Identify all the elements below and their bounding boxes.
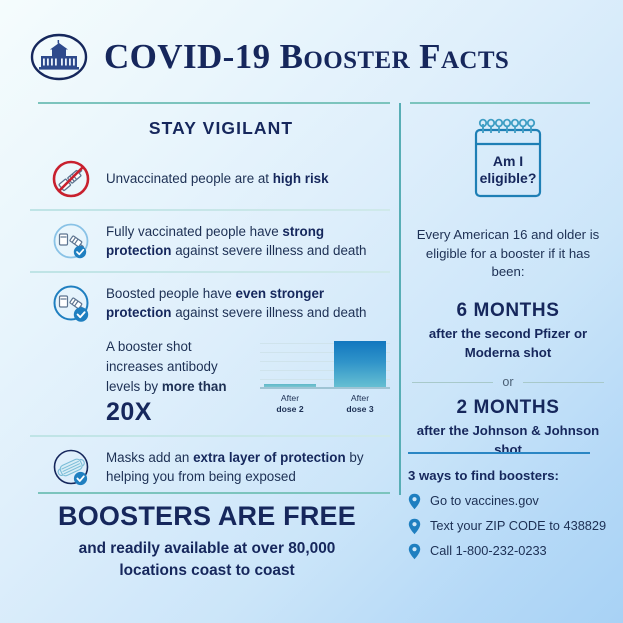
header-rule-left: [38, 102, 390, 104]
stay-vigilant-title: STAY VIGILANT: [30, 118, 390, 139]
find-boosters-section: 3 ways to find boosters: Go to vaccines.…: [408, 468, 614, 567]
fact-unvaccinated-text: Unvaccinated people are at high risk: [106, 169, 329, 188]
right-column: Am I eligible? Every American 16 and old…: [408, 114, 608, 459]
booster-antibody-block: A booster shot increases antibody levels…: [30, 333, 390, 435]
or-line-left: [412, 382, 493, 383]
chart-label-dose-2: After dose 2: [260, 393, 320, 414]
fact-masks: Masks add an extra layer of protection b…: [30, 437, 390, 497]
way-text-website: Go to vaccines.gov: [430, 492, 539, 509]
chart-label-line: After: [351, 393, 369, 403]
header-rule-right: [410, 102, 590, 104]
way-item-text[interactable]: Text your ZIP CODE to 438829: [408, 517, 614, 535]
chart-label-line: After: [281, 393, 299, 403]
booster-copy-bold: more than: [162, 379, 227, 394]
boosted-check-icon: [50, 282, 92, 324]
way-text-phone: Call 1-800-232-0233: [430, 542, 547, 559]
or-label: or: [502, 375, 513, 389]
fact-text-part: Boosted people have: [106, 286, 236, 301]
ways-heading: 3 ways to find boosters:: [408, 468, 614, 483]
fact-text-bold: extra layer of protection: [193, 450, 346, 465]
eligibility-intro: Every American 16 and older is eligible …: [408, 226, 608, 282]
fact-text-part: Fully vaccinated people have: [106, 224, 282, 239]
banner-line-2: and readily available at over 80,000: [79, 540, 336, 557]
white-house-seal-icon: [30, 32, 88, 82]
fact-text-part: Masks add an: [106, 450, 193, 465]
no-vaccine-icon: [50, 158, 92, 200]
chart-axis: [260, 387, 390, 389]
chart-label-line: dose 2: [276, 404, 303, 414]
notepad-line-1: Am I: [493, 153, 523, 169]
way-item-phone[interactable]: Call 1-800-232-0233: [408, 542, 614, 560]
option-b-duration: 2 MONTHS: [408, 397, 608, 419]
fact-fully-vaccinated-text: Fully vaccinated people have strong prot…: [106, 222, 390, 261]
way-item-website[interactable]: Go to vaccines.gov: [408, 492, 614, 510]
fact-fully-vaccinated: Fully vaccinated people have strong prot…: [30, 211, 390, 271]
or-divider: or: [412, 375, 604, 389]
fact-text-tail: against severe illness and death: [171, 243, 366, 258]
chart-label-dose-3: After dose 3: [330, 393, 390, 414]
banner-rule: [38, 492, 390, 494]
notepad-icon: Am I eligible?: [462, 114, 554, 214]
chart-category-labels: After dose 2 After dose 3: [260, 393, 390, 414]
chart-plot-area: [260, 341, 390, 389]
column-divider: [399, 103, 401, 495]
banner-subtext: and readily available at over 80,000 loc…: [22, 538, 392, 583]
fact-boosted: Boosted people have even stronger protec…: [30, 273, 390, 333]
mask-check-icon: [50, 446, 92, 488]
booster-antibody-copy: A booster shot increases antibody levels…: [106, 337, 246, 427]
notepad-line-2: eligible?: [480, 170, 537, 186]
map-pin-icon: [408, 518, 421, 535]
ways-rule: [408, 452, 590, 454]
chart-bar-after-dose-3: [334, 341, 386, 387]
left-column: STAY VIGILANT Unvaccinated people are at…: [30, 118, 390, 497]
fact-text-bold: high risk: [273, 171, 329, 186]
fact-boosted-text: Boosted people have even stronger protec…: [106, 284, 390, 323]
fact-masks-text: Masks add an extra layer of protection b…: [106, 448, 390, 487]
page-title: COVID-19 Booster Facts: [104, 37, 509, 77]
fact-text-part: Unvaccinated people are at: [106, 171, 273, 186]
or-line-right: [523, 382, 604, 383]
option-a-detail: after the second Pfizer or Moderna shot: [408, 325, 608, 362]
banner-line-3: locations coast to coast: [119, 562, 294, 579]
fact-unvaccinated: Unvaccinated people are at high risk: [30, 149, 390, 209]
fact-text-tail: against severe illness and death: [171, 305, 366, 320]
banner-headline: BOOSTERS ARE FREE: [22, 502, 392, 532]
boosters-free-banner: BOOSTERS ARE FREE and readily available …: [22, 502, 392, 582]
option-a-duration: 6 MONTHS: [408, 300, 608, 322]
booster-multiplier: 20X: [106, 398, 246, 427]
header: COVID-19 Booster Facts: [30, 26, 599, 88]
map-pin-icon: [408, 543, 421, 560]
covid-booster-infographic: COVID-19 Booster Facts STAY VIGILANT Unv…: [0, 0, 623, 623]
vaccinated-check-icon: [50, 220, 92, 262]
chart-label-line: dose 3: [346, 404, 373, 414]
way-text-text: Text your ZIP CODE to 438829: [430, 517, 606, 534]
map-pin-icon: [408, 493, 421, 510]
antibody-bar-chart: After dose 2 After dose 3: [260, 337, 390, 414]
